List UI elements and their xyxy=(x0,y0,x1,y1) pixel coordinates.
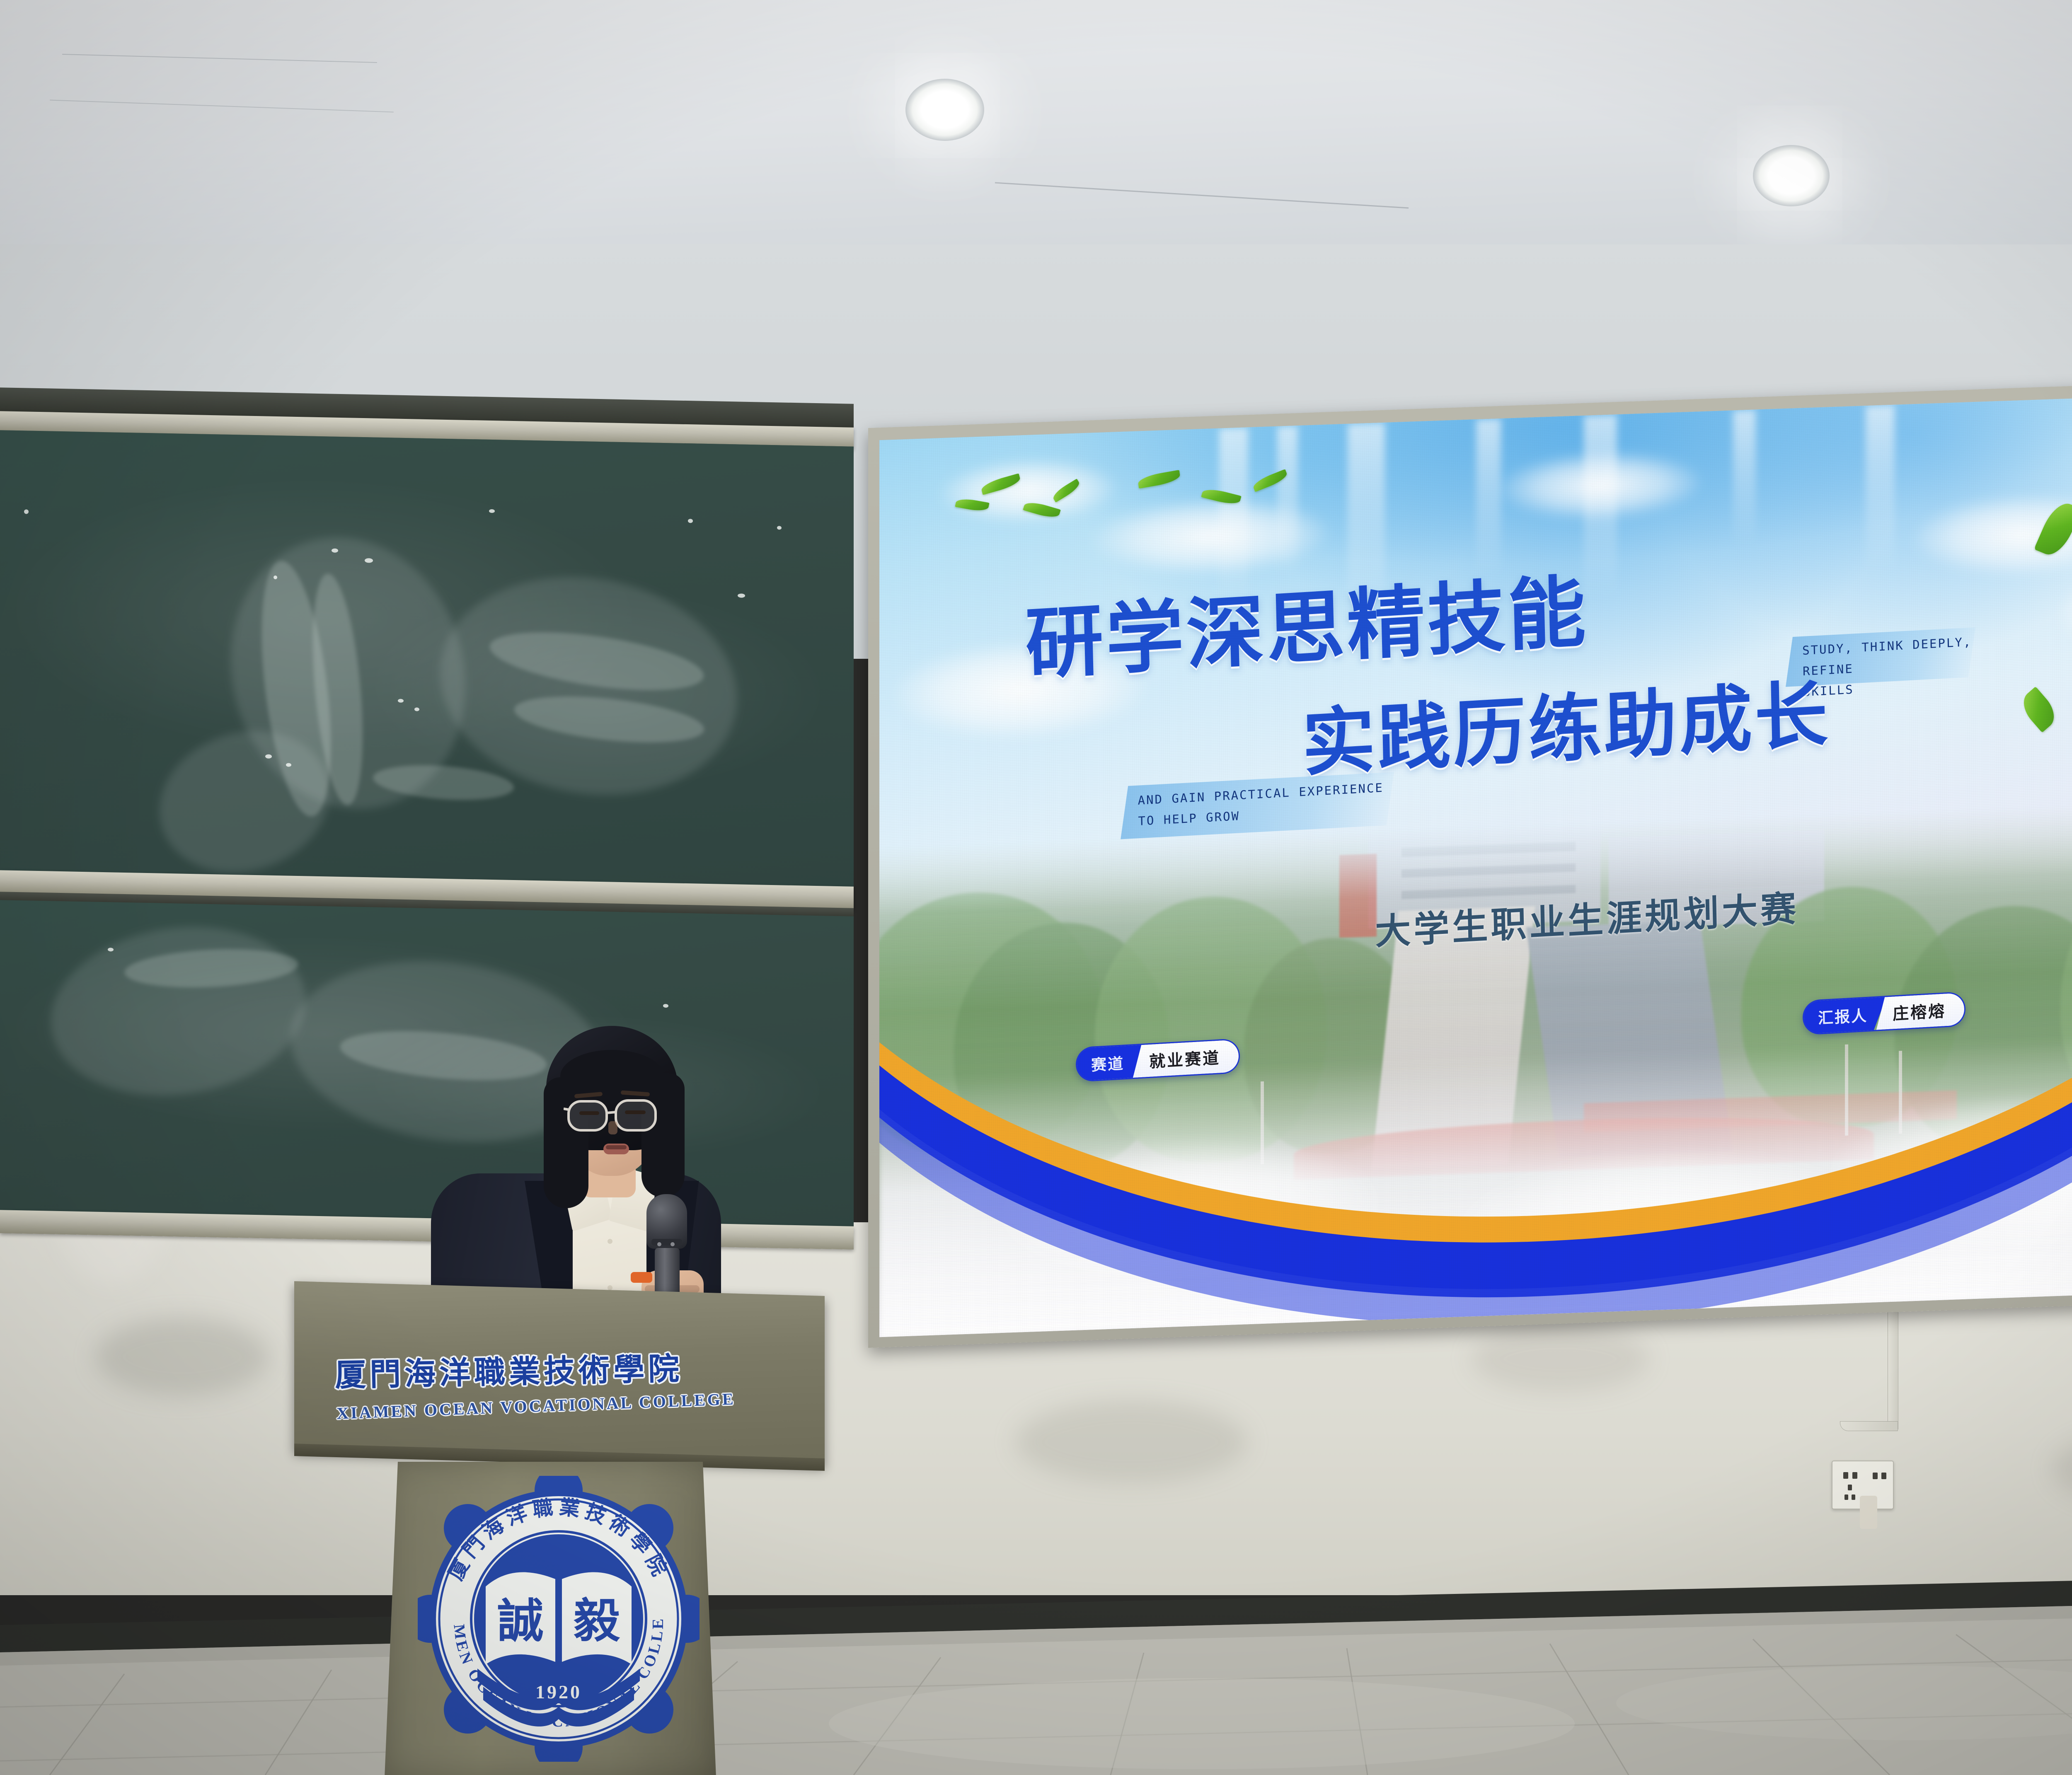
outlet-slot xyxy=(1852,1472,1857,1479)
ceiling-downlight xyxy=(905,79,984,141)
wall-stain xyxy=(1471,1326,1649,1392)
plug-adapter xyxy=(1860,1496,1877,1529)
wall-stain xyxy=(95,1318,269,1396)
presenter-value: 庄榕熔 xyxy=(1876,993,1965,1030)
presenter-label: 汇报人 xyxy=(1803,997,1887,1034)
ceiling-downlight xyxy=(1753,145,1830,206)
lectern-name-chinese: 厦門海洋職業技術學院 xyxy=(334,1343,683,1395)
emblem-motto-1: 誠 xyxy=(497,1596,544,1647)
outlet-slot xyxy=(1873,1473,1878,1479)
outlet-slot xyxy=(1848,1485,1852,1490)
emblem-motto-2: 毅 xyxy=(574,1596,620,1647)
outlet-slot xyxy=(1881,1473,1886,1479)
wall-stain xyxy=(1015,1400,1247,1483)
outlet-slot xyxy=(1844,1494,1848,1500)
outlet-slot xyxy=(1843,1472,1848,1479)
ceiling xyxy=(0,0,2072,265)
chalkboard-left-upper xyxy=(0,430,854,896)
outlet-slot xyxy=(1852,1494,1855,1500)
led-display[interactable]: 研学深思精技能 STUDY, THINK DEEPLY, REFINE SKIL… xyxy=(879,393,2072,1337)
wall-conduit-elbow xyxy=(1840,1421,1898,1431)
college-emblem: 誠 毅 1920 厦門海洋職業技術學院 XIAMEN OCEAN VOCATIO… xyxy=(418,1476,700,1762)
track-value: 就业赛道 xyxy=(1132,1040,1239,1078)
classroom-scene: 研学深思精技能 STUDY, THINK DEEPLY, REFINE SKIL… xyxy=(0,0,2072,1775)
emblem-year: 1920 xyxy=(535,1681,582,1702)
lectern: 厦門海洋職業技術學院 XIAMEN OCEAN VOCATIONAL COLLE… xyxy=(290,1289,829,1775)
